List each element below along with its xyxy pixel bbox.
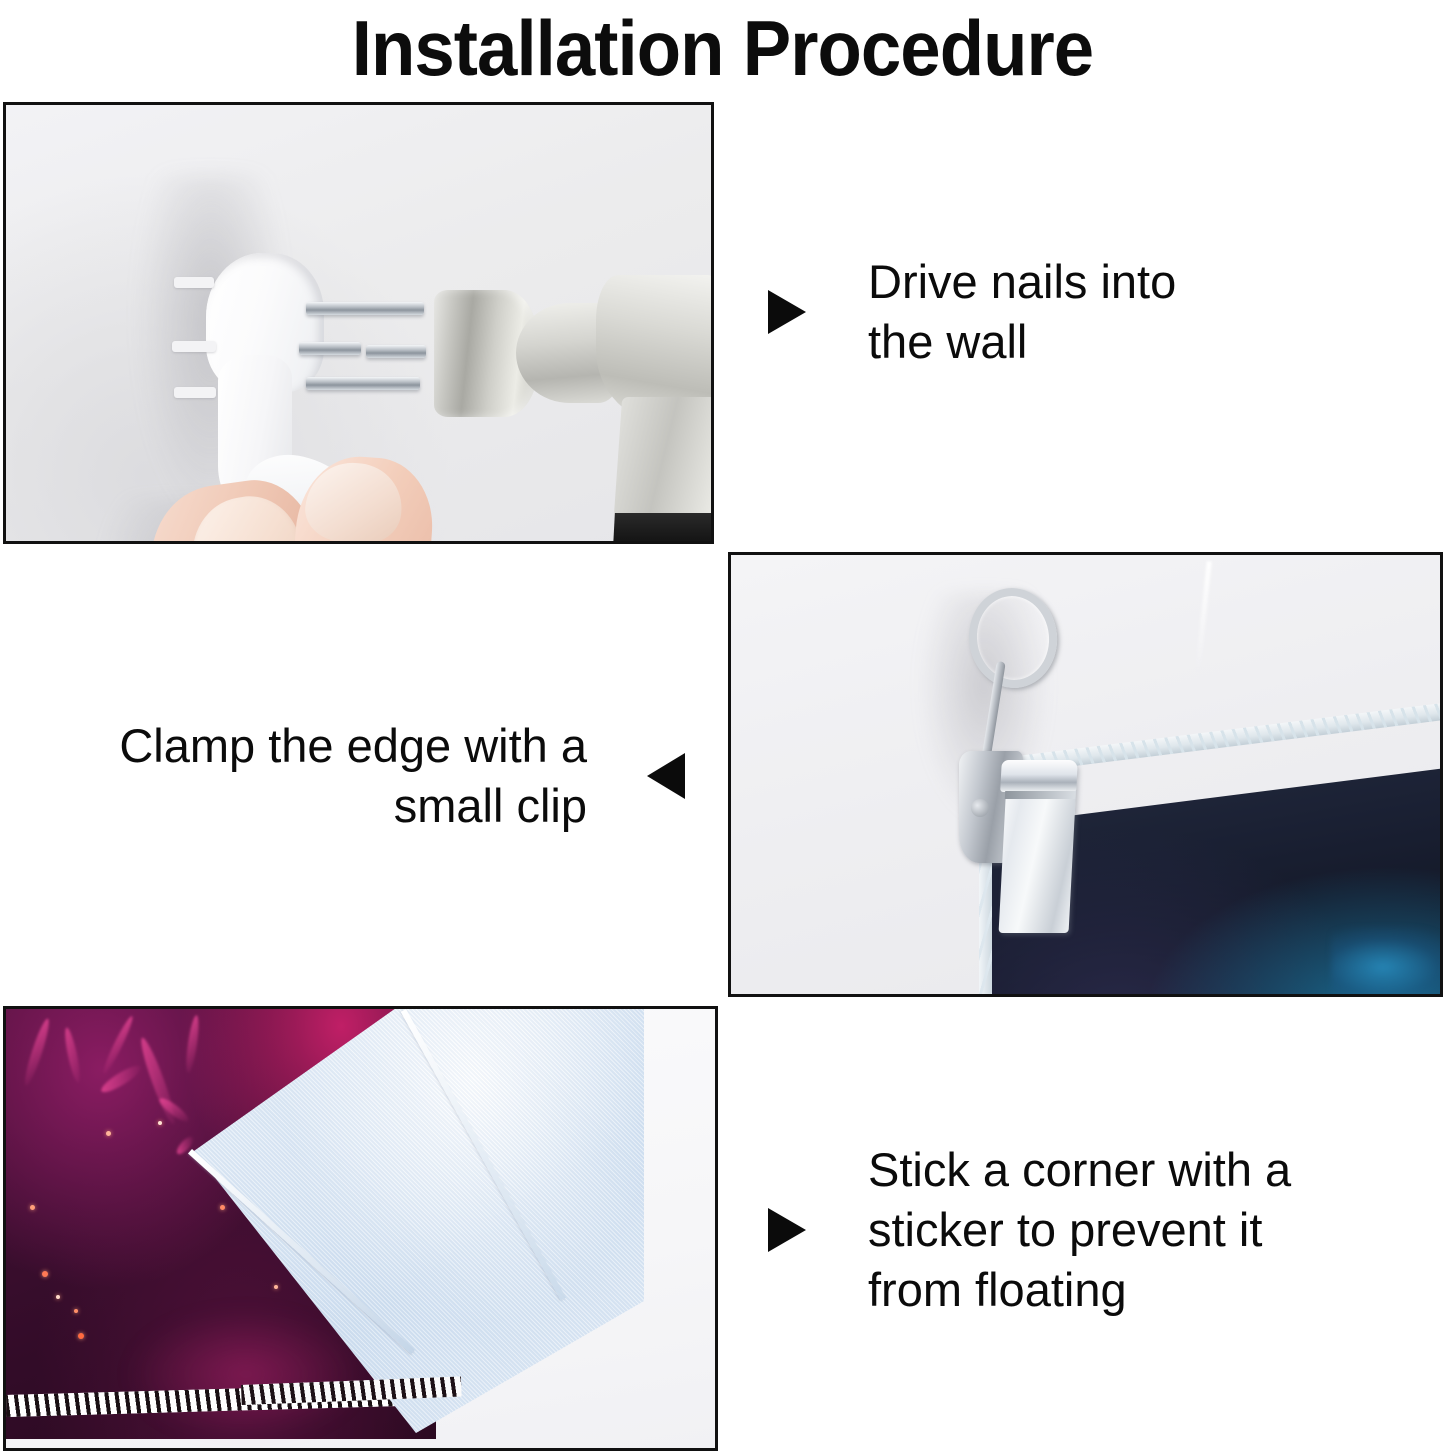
hammer-grip [610, 541, 714, 544]
hook-tab [174, 387, 216, 398]
tapestry-spark [158, 1121, 162, 1125]
step-2-caption-text: Clamp the edge with a small clip [119, 716, 587, 836]
steel-nail-pin [299, 342, 361, 355]
page-title: Installation Procedure [51, 0, 1395, 96]
step-1-caption: Drive nails into the wall [768, 252, 1328, 372]
steel-nail-pin [306, 302, 424, 315]
corner-sticker-photo [3, 1006, 718, 1451]
tapestry-spark [220, 1205, 225, 1210]
tapestry-spark [74, 1309, 78, 1313]
hook-tab [174, 277, 214, 288]
nail-hook-hammer-photo [3, 102, 714, 544]
hook-tab [172, 341, 216, 352]
clip-jaw-lip [1000, 760, 1078, 792]
tapestry-spark [56, 1295, 60, 1299]
tapestry-spark [78, 1333, 84, 1339]
triangle-left-icon [647, 753, 685, 799]
step-3-caption-text: Stick a corner with a sticker to prevent… [868, 1140, 1291, 1320]
clip-jaw-band [1005, 791, 1075, 799]
spring-clip-photo [728, 552, 1443, 997]
triangle-right-icon [768, 290, 806, 334]
tapestry-glow [126, 1309, 366, 1439]
steel-nail-pin [366, 345, 426, 358]
triangle-right-icon [768, 1208, 806, 1252]
hammer-collar [613, 513, 714, 544]
tapestry-blue-motif [1331, 927, 1443, 997]
step-2-caption: Clamp the edge with a small clip [60, 716, 685, 836]
clip-pivot [971, 799, 989, 817]
hammer-shank [614, 397, 714, 517]
steel-nail-pin [306, 377, 420, 390]
step-1-caption-text: Drive nails into the wall [868, 252, 1176, 372]
step-3-caption: Stick a corner with a sticker to prevent… [768, 1140, 1368, 1320]
tapestry-spark [30, 1205, 35, 1210]
tapestry-spark [106, 1131, 111, 1136]
tapestry-spark [274, 1285, 278, 1289]
tapestry-spark [42, 1271, 48, 1277]
